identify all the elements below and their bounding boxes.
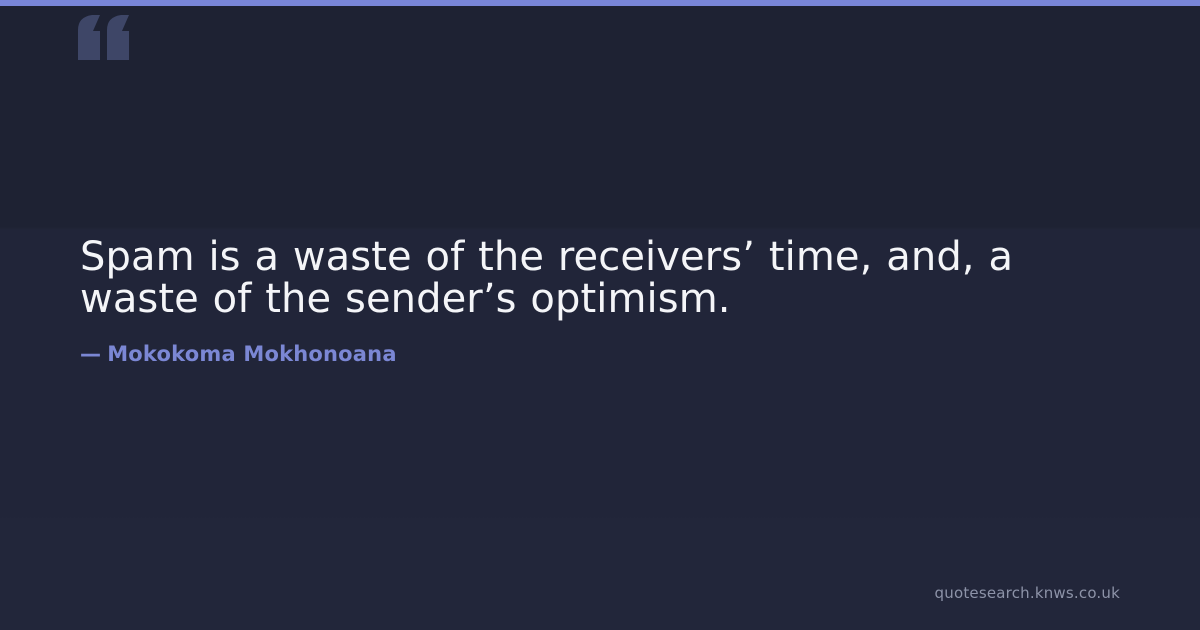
opening-quotation-mark-icon: [76, 14, 146, 84]
quote-attribution: —Mokokoma Mokhonoana: [80, 320, 1124, 367]
top-accent-bar: [0, 0, 1200, 6]
quote-content: Spam is a waste of the receivers’ time, …: [80, 236, 1124, 367]
attribution-author: Mokokoma Mokhonoana: [107, 342, 396, 366]
site-watermark: quotesearch.knws.co.uk: [935, 584, 1120, 602]
attribution-dash: —: [80, 342, 107, 367]
quote-text: Spam is a waste of the receivers’ time, …: [80, 236, 1124, 320]
quote-card: Spam is a waste of the receivers’ time, …: [0, 0, 1200, 630]
